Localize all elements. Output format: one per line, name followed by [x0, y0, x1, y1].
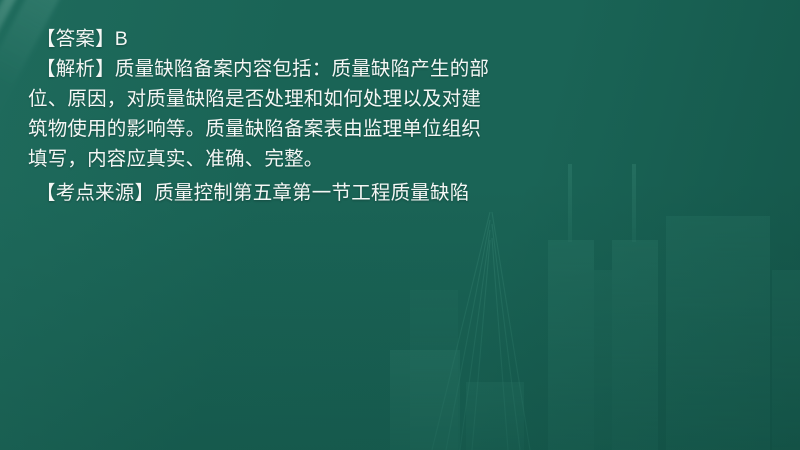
analysis-line-3: 筑物使用的影响等。质量缺陷备案表由监理单位组织: [28, 114, 748, 144]
analysis-line-2: 位、原因，对质量缺陷是否处理和如何处理以及对建: [28, 84, 748, 114]
source-line: 【考点来源】质量控制第五章第一节工程质量缺陷: [28, 178, 748, 208]
analysis-line-1: 【解析】质量缺陷备案内容包括：质量缺陷产生的部: [28, 54, 748, 84]
slide-text-block: 【答案】B 【解析】质量缺陷备案内容包括：质量缺陷产生的部 位、原因，对质量缺陷…: [28, 24, 748, 208]
answer-line: 【答案】B: [28, 24, 748, 54]
analysis-line-4: 填写，内容应真实、准确、完整。: [28, 144, 748, 174]
slide-canvas: 【答案】B 【解析】质量缺陷备案内容包括：质量缺陷产生的部 位、原因，对质量缺陷…: [0, 0, 800, 450]
